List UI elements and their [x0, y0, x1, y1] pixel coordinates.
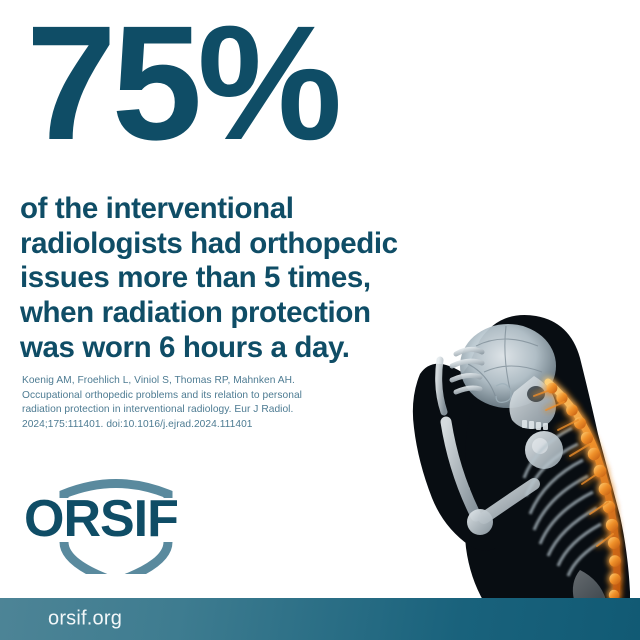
orsif-wordmark: ORSIF: [24, 490, 178, 548]
orsif-logo[interactable]: ORSIF: [24, 478, 210, 574]
citation-line: radiation protection in interventional r…: [22, 403, 342, 418]
page-title: 75%: [26, 0, 337, 175]
citation-line: 2024;175:111401. doi:10.1016/j.ejrad.202…: [22, 418, 342, 433]
statement-line: issues more than 5 times,: [20, 261, 490, 296]
footer-bar: orsif.org: [0, 598, 640, 640]
spine-pain-figure-icon: [384, 302, 640, 602]
citation-line: Koenig AM, Froehlich L, Viniol S, Thomas…: [22, 374, 342, 389]
citation-line: Occupational orthopedic problems and its…: [22, 389, 342, 404]
statement-line: radiologists had orthopedic: [20, 227, 490, 262]
citation-block: Koenig AM, Froehlich L, Viniol S, Thomas…: [22, 374, 342, 433]
infographic-poster: 75% of the interventional radiologists h…: [0, 0, 640, 640]
website-url[interactable]: orsif.org: [48, 608, 122, 631]
statement-line: of the interventional: [20, 192, 490, 227]
